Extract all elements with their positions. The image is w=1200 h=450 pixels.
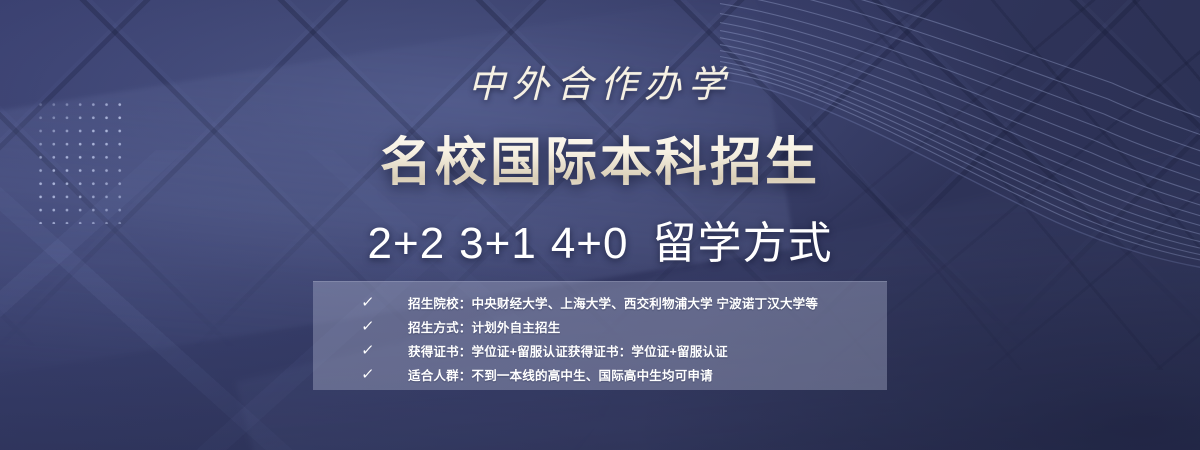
banner-root: 中外合作办学 名校国际本科招生 2+23+14+0留学方式 ✓ 招生院校：中央财… bbox=[0, 0, 1200, 450]
info-row: ✓ 招生院校：中央财经大学、上海大学、西交利物浦大学 宁波诺丁汉大学等 bbox=[313, 291, 887, 314]
check-icon: ✓ bbox=[312, 319, 409, 334]
info-row-text: 获得证书：学位证+留服认证获得证书：学位证+留服认证 bbox=[408, 341, 728, 360]
info-row: ✓ 适合人群：不到一本线的高中生、国际高中生均可申请 bbox=[313, 363, 887, 386]
check-icon: ✓ bbox=[312, 343, 409, 358]
page-title: 名校国际本科招生 bbox=[0, 120, 1200, 195]
program-option-3: 4+0 bbox=[551, 219, 629, 268]
info-row-text: 招生院校：中央财经大学、上海大学、西交利物浦大学 宁波诺丁汉大学等 bbox=[408, 293, 818, 312]
dot-grid-pattern bbox=[34, 98, 130, 224]
program-option-1: 2+2 bbox=[368, 219, 446, 268]
info-row-text: 适合人群：不到一本线的高中生、国际高中生均可申请 bbox=[408, 365, 713, 384]
info-row: ✓ 招生方式：计划外自主招生 bbox=[313, 315, 887, 338]
study-abroad-label: 留学方式 bbox=[652, 219, 832, 268]
check-icon: ✓ bbox=[312, 295, 409, 310]
check-icon: ✓ bbox=[312, 367, 409, 382]
info-row-text: 招生方式：计划外自主招生 bbox=[408, 317, 560, 336]
program-option-2: 3+1 bbox=[459, 219, 537, 268]
kicker-text: 中外合作办学 bbox=[0, 54, 1200, 108]
info-row: ✓ 获得证书：学位证+留服认证获得证书：学位证+留服认证 bbox=[313, 339, 887, 362]
info-panel: ✓ 招生院校：中央财经大学、上海大学、西交利物浦大学 宁波诺丁汉大学等 ✓ 招生… bbox=[313, 281, 887, 390]
subtitle-text: 2+23+14+0留学方式 bbox=[0, 207, 1200, 271]
